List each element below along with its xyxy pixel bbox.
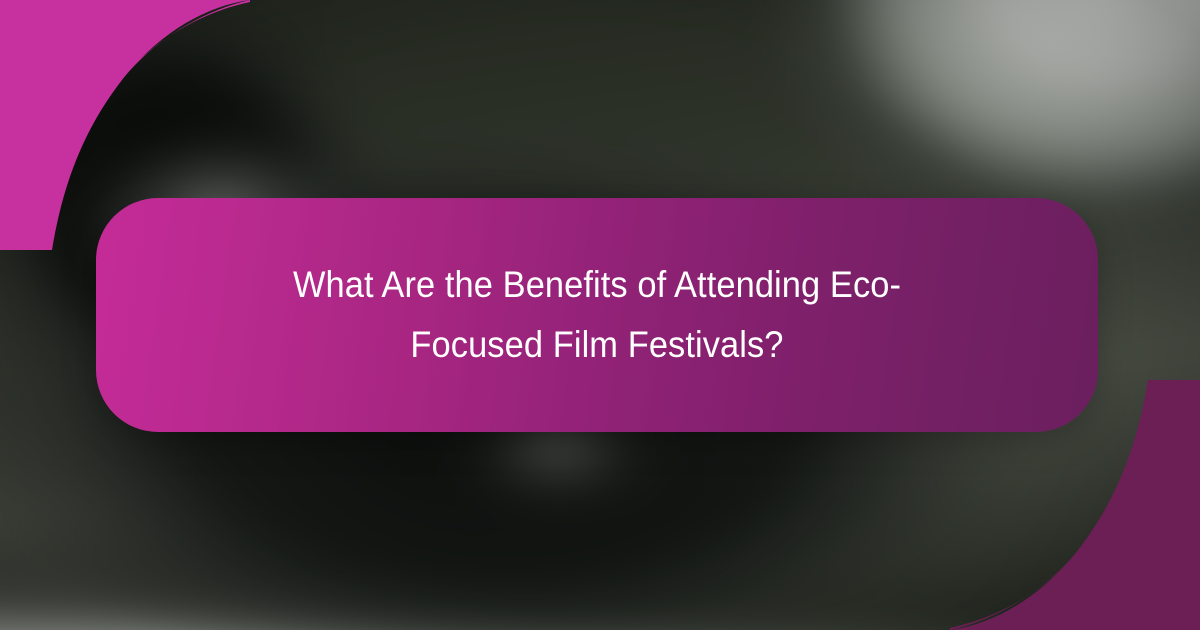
share-card-canvas: What Are the Benefits of Attending Eco-F…	[0, 0, 1200, 630]
page-title: What Are the Benefits of Attending Eco-F…	[234, 255, 959, 375]
headline-card: What Are the Benefits of Attending Eco-F…	[96, 198, 1098, 432]
